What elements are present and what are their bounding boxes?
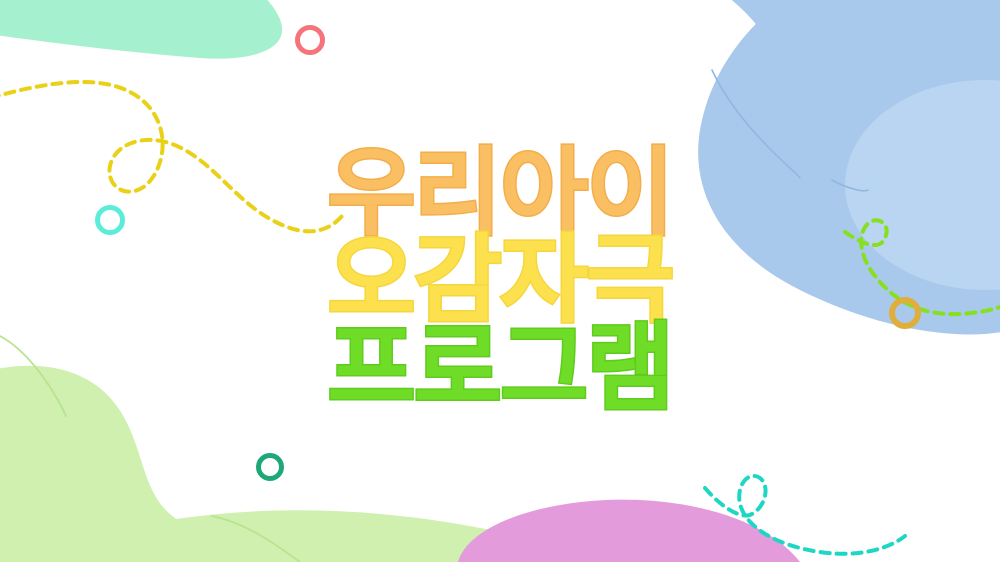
background-decorations xyxy=(0,0,1000,562)
title-card-canvas: 우리아이 오감자극 프로그램 xyxy=(0,0,1000,562)
